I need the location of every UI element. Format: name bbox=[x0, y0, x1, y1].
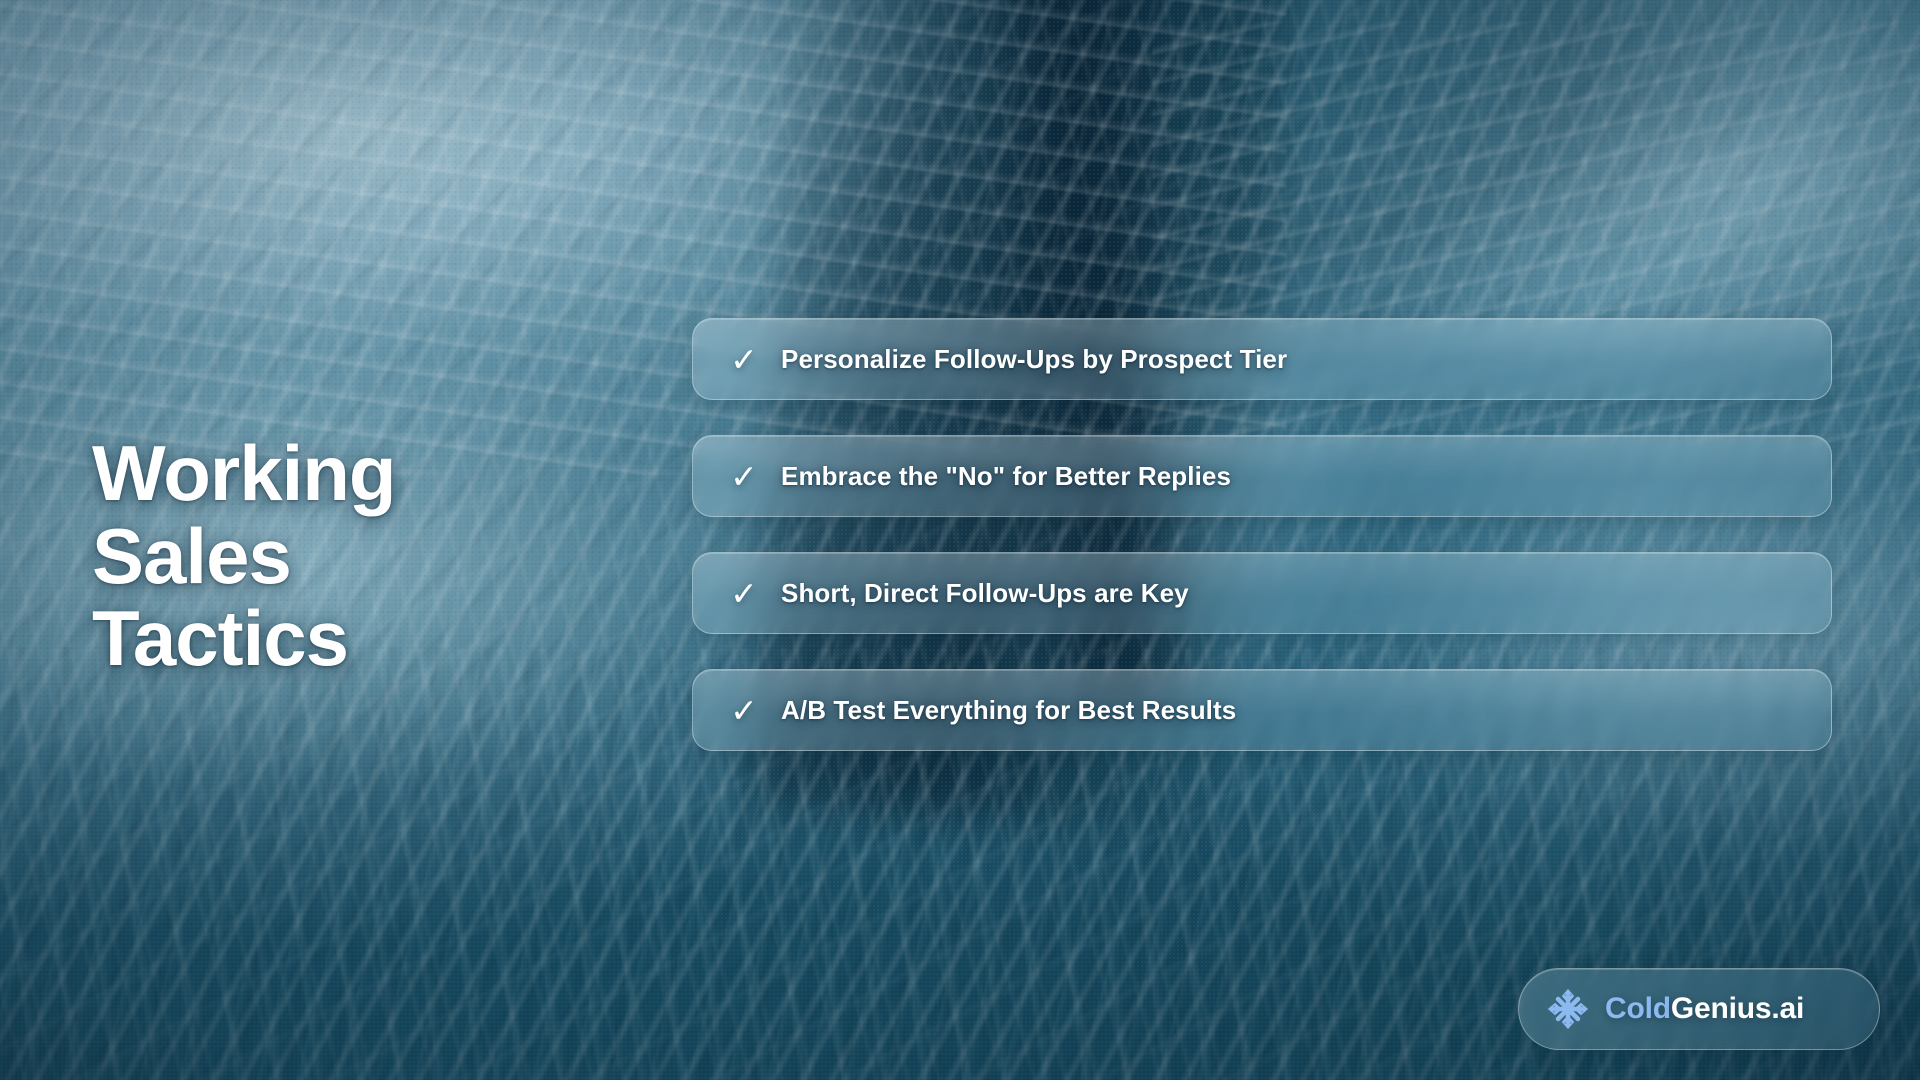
checklist-card-4-label: A/B Test Everything for Best Results bbox=[781, 695, 1236, 726]
check-icon: ✓ bbox=[721, 577, 767, 610]
page-title: Working Sales Tactics bbox=[92, 432, 612, 680]
checklist-card-3[interactable]: ✓ Short, Direct Follow-Ups are Key bbox=[692, 552, 1832, 634]
checklist-card-group: ✓ Personalize Follow-Ups by Prospect Tie… bbox=[692, 318, 1832, 786]
checklist-card-4[interactable]: ✓ A/B Test Everything for Best Results bbox=[692, 669, 1832, 751]
check-icon: ✓ bbox=[721, 343, 767, 376]
checklist-card-3-label: Short, Direct Follow-Ups are Key bbox=[781, 578, 1189, 609]
brand-wordmark: ColdGenius.ai bbox=[1605, 992, 1804, 1026]
check-icon: ✓ bbox=[721, 460, 767, 493]
checklist-card-2-label: Embrace the "No" for Better Replies bbox=[781, 461, 1231, 492]
brand-wordmark-second: Genius.ai bbox=[1671, 992, 1804, 1025]
checklist-card-1-label: Personalize Follow-Ups by Prospect Tier bbox=[781, 344, 1287, 375]
brand-wordmark-first: Cold bbox=[1605, 992, 1671, 1025]
checklist-card-1[interactable]: ✓ Personalize Follow-Ups by Prospect Tie… bbox=[692, 318, 1832, 400]
slide-canvas: Working Sales Tactics ✓ Personalize Foll… bbox=[0, 0, 1920, 1080]
brand-logo-badge[interactable]: ColdGenius.ai bbox=[1518, 968, 1880, 1050]
snowflake-icon bbox=[1545, 986, 1591, 1032]
checklist-card-2[interactable]: ✓ Embrace the "No" for Better Replies bbox=[692, 435, 1832, 517]
check-icon: ✓ bbox=[721, 694, 767, 727]
